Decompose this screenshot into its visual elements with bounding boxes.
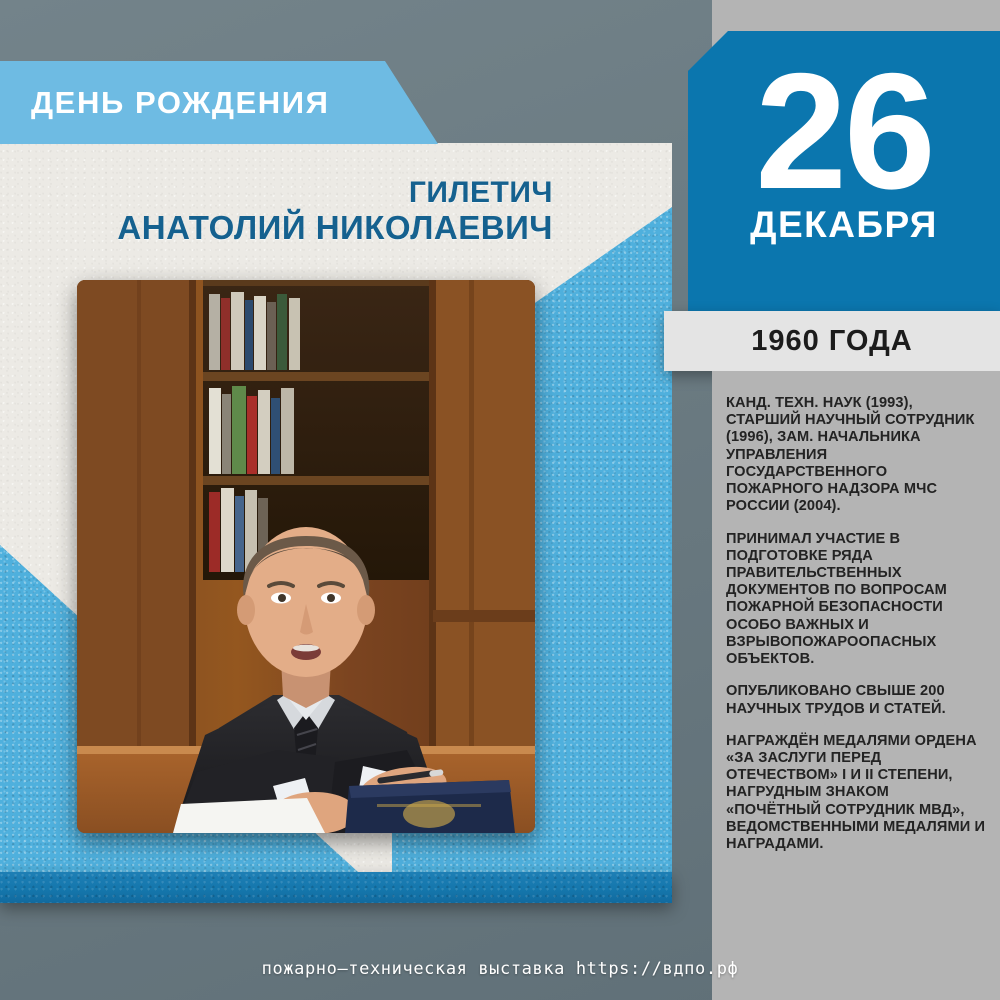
footer-url: пожарно–техническая выставка https://вдп… [262, 959, 739, 979]
biography-text: КАНД. ТЕХН. НАУК (1993), СТАРШИЙ НАУЧНЫЙ… [712, 371, 1000, 853]
birthday-ribbon: ДЕНЬ РОЖДЕНИЯ [0, 61, 438, 144]
person-name: ГИЛЕТИЧ АНАТОЛИЙ НИКОЛАЕВИЧ [0, 176, 553, 247]
date-panel: 26 ДЕКАБРЯ [688, 31, 1000, 320]
bottom-blue-band [0, 872, 672, 903]
year-label: 1960 ГОДА [751, 325, 912, 358]
footer: пожарно–техническая выставка https://вдп… [0, 938, 1000, 1000]
bio-paragraph: ОПУБЛИКОВАНО СВЫШЕ 200 НАУЧНЫХ ТРУДОВ И … [726, 683, 988, 717]
bio-paragraph: КАНД. ТЕХН. НАУК (1993), СТАРШИЙ НАУЧНЫЙ… [726, 395, 988, 516]
ribbon-label: ДЕНЬ РОЖДЕНИЯ [0, 85, 330, 121]
birthday-card: ДЕНЬ РОЖДЕНИЯ ГИЛЕТИЧ АНАТОЛИЙ НИКОЛАЕВИ… [0, 0, 1000, 1000]
person-last-name: ГИЛЕТИЧ [0, 176, 553, 210]
portrait-photo [77, 280, 535, 833]
bio-paragraph: ПРИНИМАЛ УЧАСТИЕ В ПОДГОТОВКЕ РЯДА ПРАВИ… [726, 531, 988, 669]
date-month: ДЕКАБРЯ [688, 204, 1000, 246]
date-day: 26 [688, 53, 1000, 210]
bio-paragraph: НАГРАЖДЁН МЕДАЛЯМИ ОРДЕНА «ЗА ЗАСЛУГИ ПЕ… [726, 733, 988, 854]
biography-panel: КАНД. ТЕХН. НАУК (1993), СТАРШИЙ НАУЧНЫЙ… [712, 371, 1000, 900]
person-first-patronymic: АНАТОЛИЙ НИКОЛАЕВИЧ [0, 210, 553, 247]
year-strip: 1960 ГОДА [664, 311, 1000, 371]
